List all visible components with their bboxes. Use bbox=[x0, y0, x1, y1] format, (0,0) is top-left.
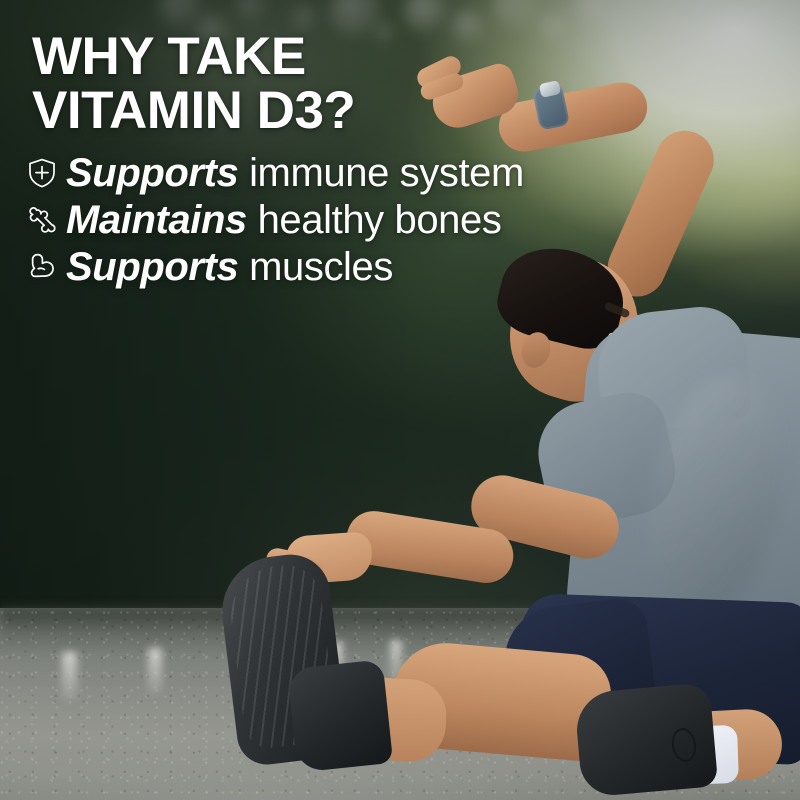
benefit-rest: healthy bones bbox=[247, 198, 502, 242]
benefit-list: Supports immune system Maintains healthy… bbox=[0, 149, 700, 290]
marketing-copy-block: WHY TAKE VITAMIN D3? Supports immune sys… bbox=[0, 0, 700, 290]
benefit-emphasis: Supports bbox=[66, 245, 238, 289]
headline-line-1: WHY TAKE bbox=[32, 30, 700, 84]
shield-plus-icon bbox=[25, 156, 59, 190]
benefit-label: Maintains healthy bones bbox=[66, 199, 501, 241]
benefit-rest: muscles bbox=[238, 245, 393, 289]
page-title: WHY TAKE VITAMIN D3? bbox=[0, 0, 700, 138]
list-item: Supports muscles bbox=[25, 243, 700, 290]
benefit-emphasis: Maintains bbox=[66, 198, 247, 242]
benefit-rest: immune system bbox=[238, 151, 524, 195]
running-shoe-near bbox=[574, 682, 719, 797]
benefit-label: Supports muscles bbox=[66, 246, 393, 288]
flexed-bicep-icon bbox=[25, 250, 59, 284]
headline-line-2: VITAMIN D3? bbox=[32, 84, 700, 138]
running-shoe-upper bbox=[287, 659, 393, 772]
list-item: Supports immune system bbox=[25, 149, 700, 196]
bone-icon bbox=[25, 203, 59, 237]
vitamin-d3-benefits-poster: WHY TAKE VITAMIN D3? Supports immune sys… bbox=[0, 0, 800, 800]
benefit-label: Supports immune system bbox=[66, 152, 524, 194]
list-item: Maintains healthy bones bbox=[25, 196, 700, 243]
benefit-emphasis: Supports bbox=[66, 151, 238, 195]
